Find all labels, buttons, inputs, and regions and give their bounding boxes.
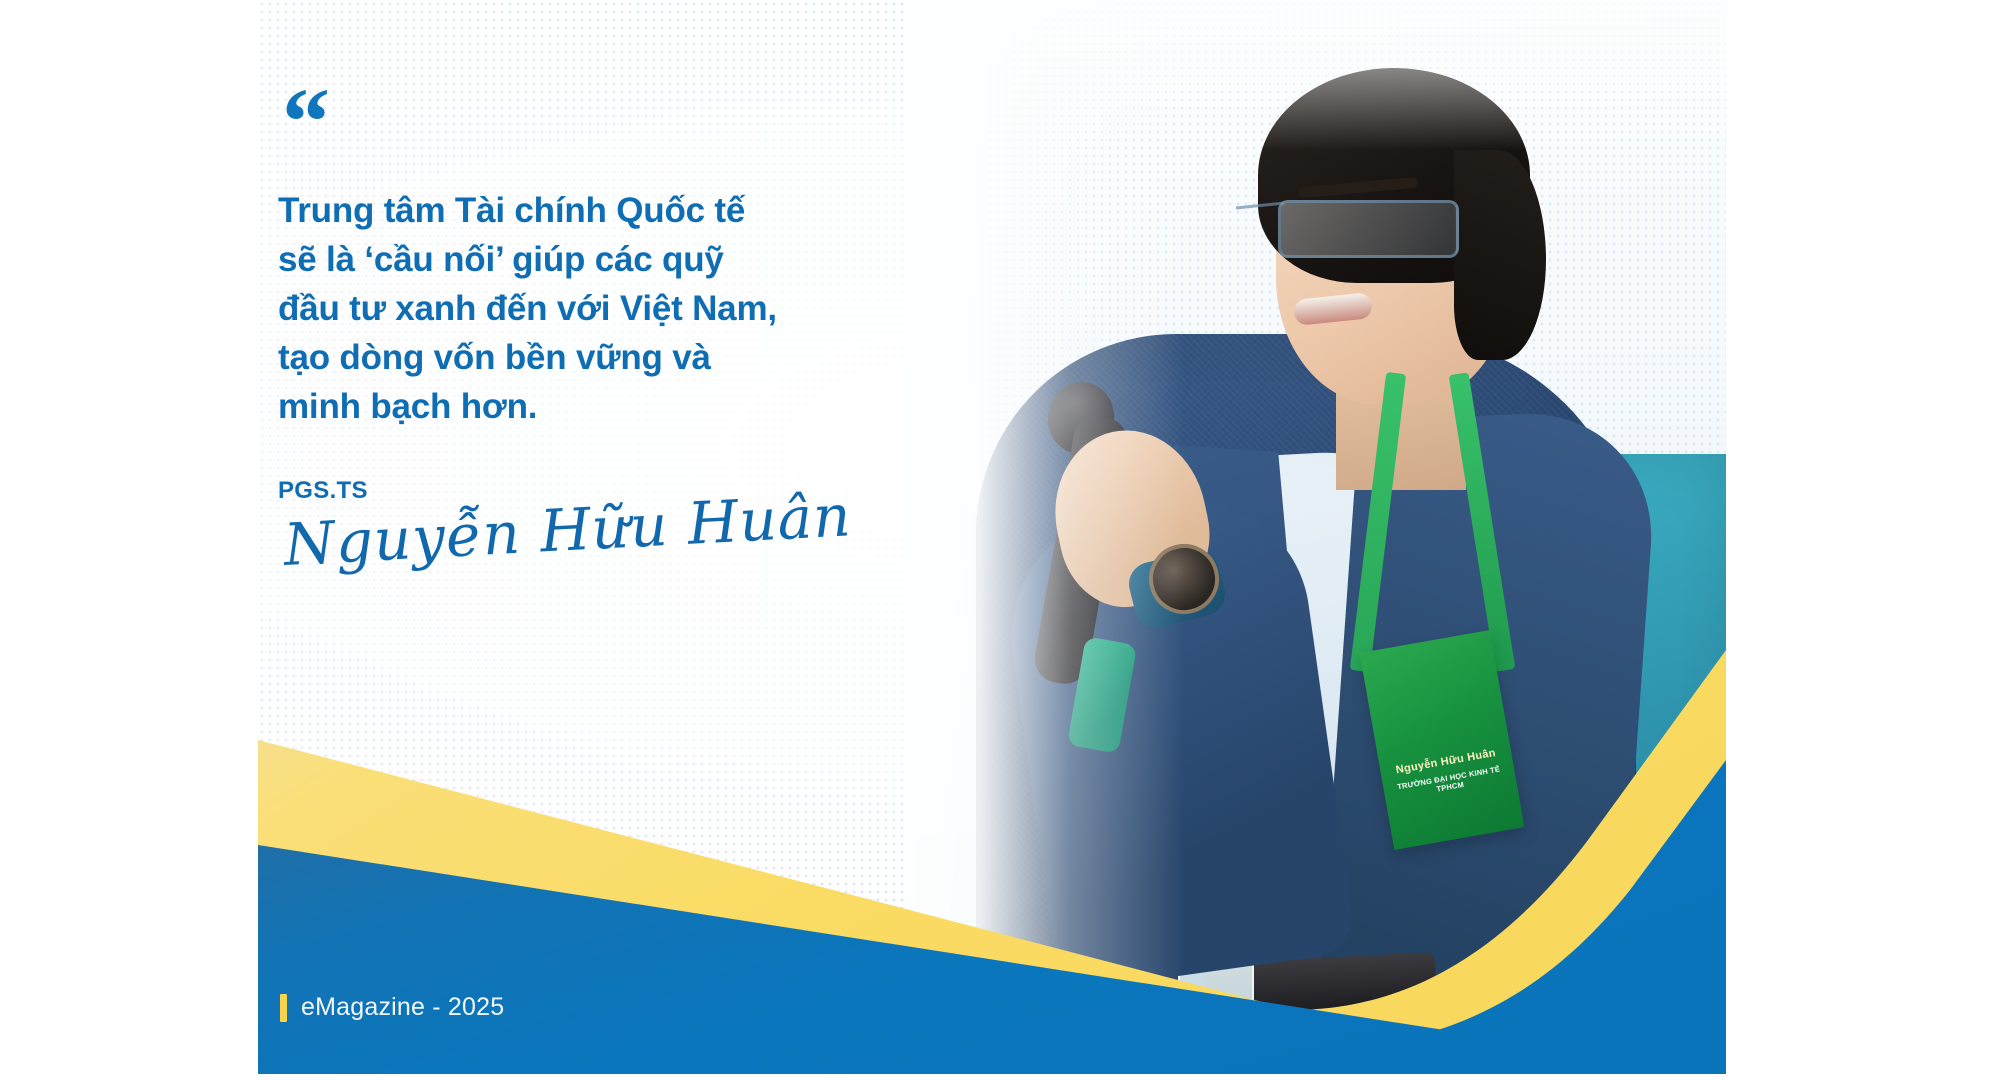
quote-text: Trung tâm Tài chính Quốc tế sẽ là ‘cầu n… [278,186,918,431]
quote-line: tạo dòng vốn bền vững và [278,333,918,382]
quote-block: “ Trung tâm Tài chính Quốc tế sẽ là ‘cầu… [278,92,918,579]
footer-label: eMagazine - 2025 [301,993,504,1022]
quotation-mark-icon: “ [282,92,918,152]
quote-line: minh bạch hơn. [278,382,918,431]
footer: eMagazine - 2025 [280,993,504,1022]
quote-line: đầu tư xanh đến với Việt Nam, [278,284,918,333]
footer-accent-bar [280,994,287,1022]
quote-line: Trung tâm Tài chính Quốc tế [278,186,918,235]
screenshot-root: Nguyễn Hữu Huân TRƯỜNG ĐẠI HỌC KINH TẾ T… [0,0,2000,1080]
emagazine-quote-card: Nguyễn Hữu Huân TRƯỜNG ĐẠI HỌC KINH TẾ T… [258,0,1726,1074]
quote-line: sẽ là ‘cầu nối’ giúp các quỹ [278,235,918,284]
